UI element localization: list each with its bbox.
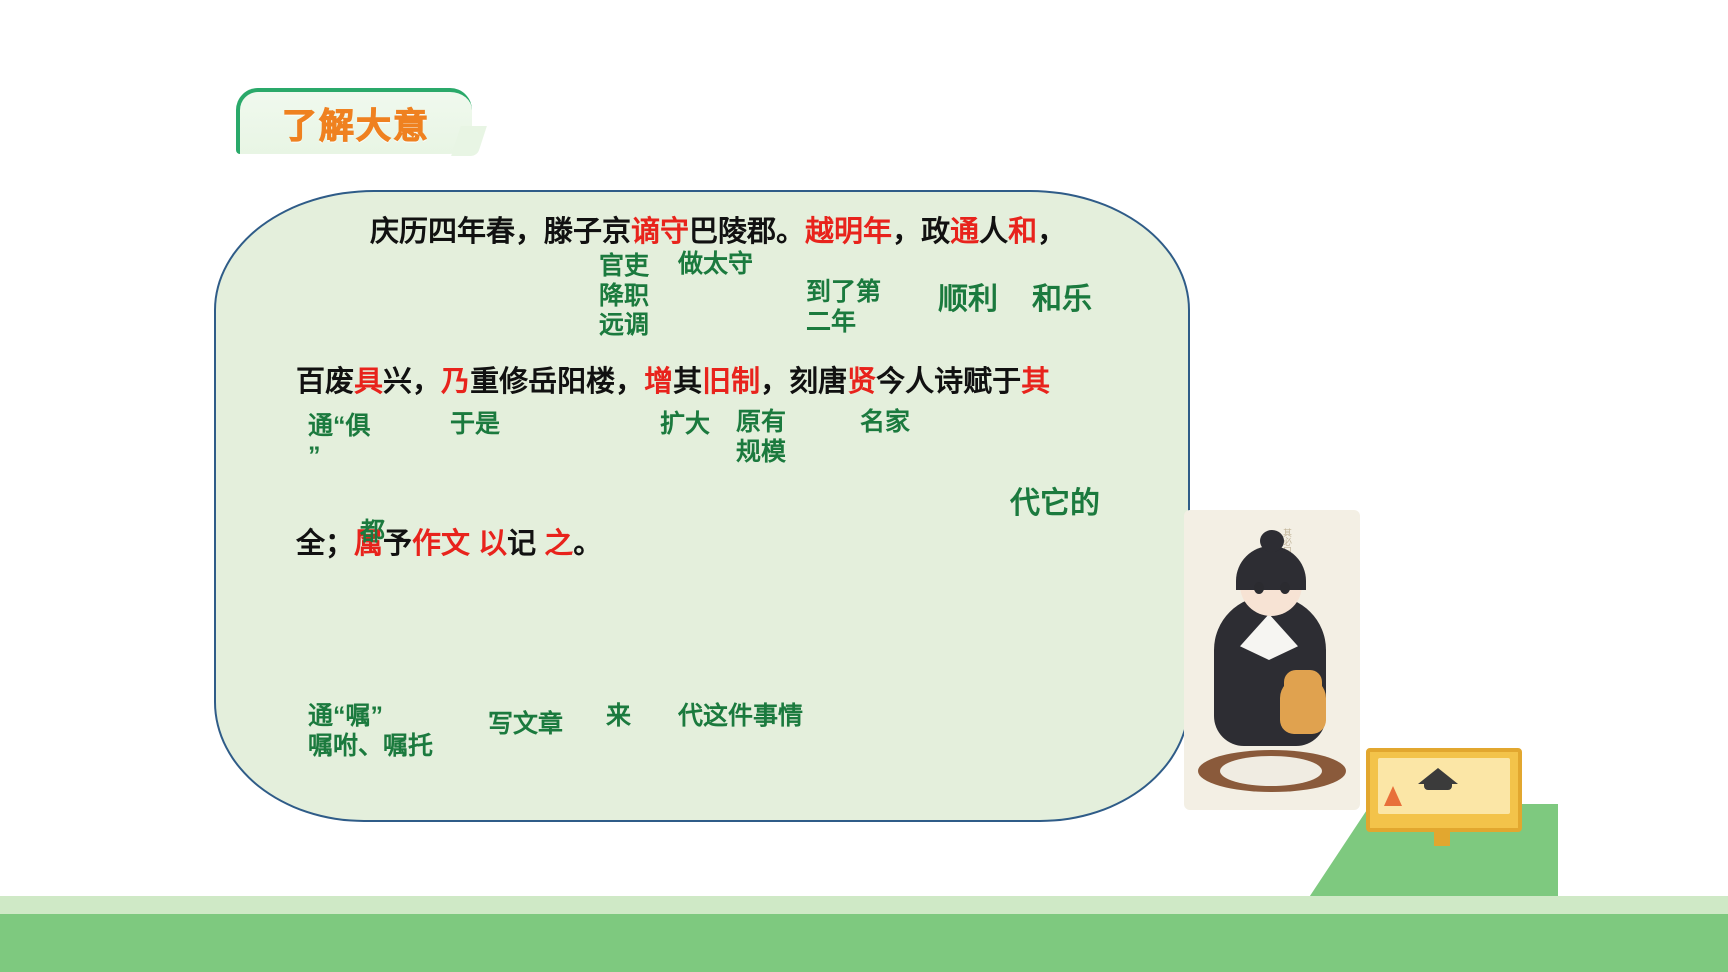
passage-text: 。 [573,528,602,560]
girl-eye-left [1254,582,1264,594]
annotation-guanli-jiangzhi-yuandiao: 官吏 降职 远调 [599,252,649,341]
annotation-hele: 和乐 [1032,282,1092,317]
passage-text: 记 [507,528,536,560]
passage-text: ，政 [892,216,950,248]
passage-line-1: 庆历四年春，滕子京谪守巴陵郡。越明年，政通人和， [370,208,1066,250]
page-title: 了解大意 [282,98,430,149]
passage-keyword: 以 [478,528,507,560]
passage-text: ，刻唐 [760,366,847,398]
bottom-band [0,914,1728,972]
annotation-xiewenzhang: 写文章 [488,710,563,740]
passage-text: 其 [673,366,702,398]
passage-keyword: 旧制 [702,366,760,398]
annotation-du: 都 [360,518,385,548]
annotation-daolediernian: 到了第 二年 [806,278,881,337]
annotation-yuanyou-guimo: 原有 规模 [736,408,786,467]
content-layer: 庆历四年春，滕子京谪守巴陵郡。越明年，政通人和， 官吏 降职 远调 做太守 到了… [214,190,1190,822]
passage-keyword: 增 [644,366,673,398]
passage-text: 今人诗赋于 [876,366,1021,398]
passage-text: 予 [383,528,412,560]
slide-root: 了解大意 庆历四年春，滕子京谪守巴陵郡。越明年，政通人和， 官吏 降职 远调 做… [0,0,1728,972]
passage-text: 重修岳阳楼， [470,366,644,398]
section-title-tab: 了解大意 [236,88,472,154]
annotation-tong-zhu: 通“嘱” 嘱咐、嘱托 [308,702,433,761]
blackboard-stand [1434,832,1450,846]
passage-keyword: 通 [950,216,979,248]
bottom-band-light [0,896,1728,914]
passage-text [470,528,478,560]
girl-reading-illustration: 其必曰先天下之忧而忧 [1184,510,1360,810]
annotation-shunli: 顺利 [938,282,998,317]
passage-text: 庆历四年春，滕子京 [370,216,631,248]
passage-keyword: 谪守 [631,216,689,248]
passage-line-3: 全；属予作文 以记 之。 [296,520,602,562]
cat-figure [1280,678,1326,734]
passage-text: 全； [296,528,354,560]
graduation-cap-base [1424,782,1452,790]
passage-keyword: 越明年 [805,216,892,248]
passage-keyword: 作文 [412,528,470,560]
annotation-yushi: 于是 [450,410,500,440]
passage-text: 巴陵郡。 [689,216,805,248]
passage-keyword: 乃 [441,366,470,398]
passage-keyword: 和 [1008,216,1037,248]
cone-icon [1384,786,1402,806]
girl-eye-right [1280,582,1290,594]
passage-text: 兴， [383,366,441,398]
passage-keyword: 之 [544,528,573,560]
annotation-daizhejianshiqing: 代这件事情 [678,702,803,732]
passage-text [536,528,544,560]
passage-line-2: 百废具兴，乃重修岳阳楼，增其旧制，刻唐贤今人诗赋于其 [296,358,1050,400]
ground-highlight [1220,756,1322,786]
passage-keyword: 其 [1021,366,1050,398]
passage-text: 百废 [296,366,354,398]
annotation-tong-ju: 通“俱 ” [308,412,371,471]
annotation-zuotaishou: 做太守 [678,250,753,280]
girl-hair-bun [1260,530,1284,552]
passage-keyword: 贤 [847,366,876,398]
annotation-kuoda: 扩大 [660,410,710,440]
annotation-mingjia: 名家 [860,408,910,438]
annotation-lai: 来 [606,702,631,732]
annotation-daitade: 代它的 [1010,486,1100,521]
passage-text: ， [1037,216,1066,248]
passage-text: 人 [979,216,1008,248]
passage-keyword: 具 [354,366,383,398]
